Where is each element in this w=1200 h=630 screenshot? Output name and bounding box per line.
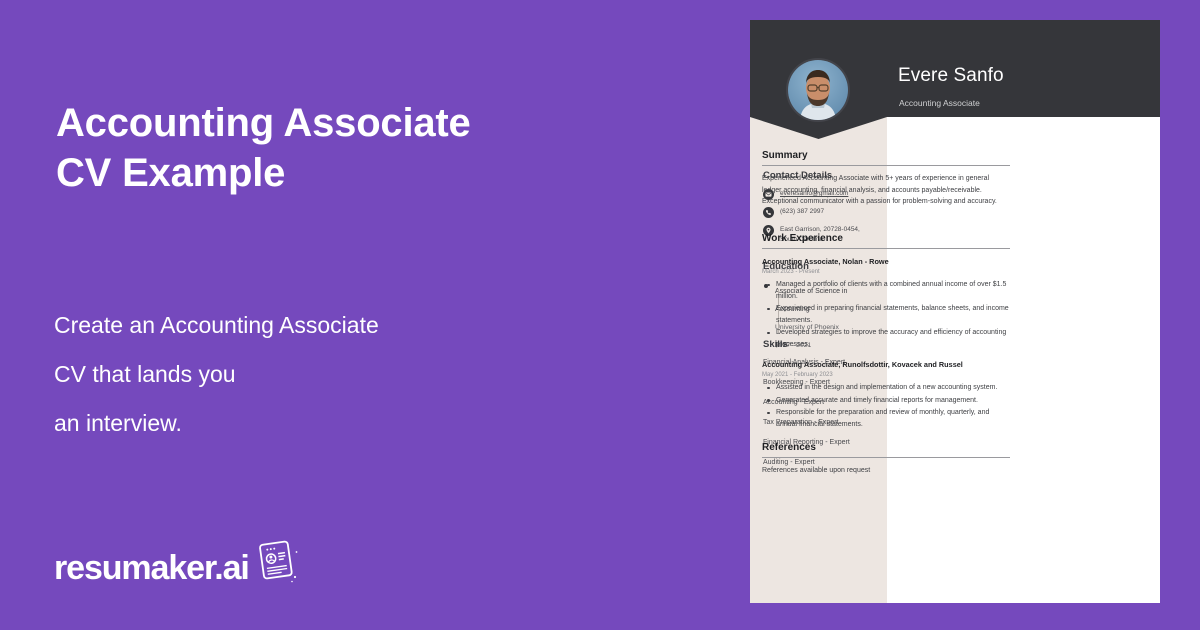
phone-icon — [763, 207, 774, 218]
work-experience-section: Work Experience Accounting Associate, No… — [762, 233, 1010, 431]
summary-divider — [762, 165, 1010, 166]
job-bullet: Responsible for the preparation and revi… — [762, 407, 1010, 430]
work-experience-item: Accounting Associate, Runolfsdottir, Kov… — [762, 359, 1010, 430]
contact-row-phone[interactable]: (623) 387 2997 — [763, 207, 881, 218]
job-title: Accounting Associate, Runolfsdottir, Kov… — [762, 359, 1010, 370]
job-bullet: Developed strategies to improve the accu… — [762, 327, 1010, 350]
cv-preview-card[interactable]: Evere Sanfo Accounting Associate Contact… — [750, 20, 1160, 603]
work-experience-item: Accounting Associate, Nolan - Rowe March… — [762, 256, 1010, 350]
job-bullet-list: Assisted in the design and implementatio… — [762, 382, 1010, 430]
promo-panel: Accounting Associate CV Example Create a… — [0, 0, 750, 630]
references-section: References References available upon req… — [762, 442, 1010, 477]
avatar — [786, 58, 850, 122]
job-bullet: Generated accurate and timely financial … — [762, 395, 1010, 407]
cv-person-role: Accounting Associate — [899, 98, 980, 108]
job-title: Accounting Associate, Nolan - Rowe — [762, 256, 1010, 267]
job-dates: May 2021 - February 2023 — [762, 370, 1010, 380]
job-bullet: Managed a portfolio of clients with a co… — [762, 279, 1010, 302]
job-dates: March 2023 - Present — [762, 267, 1010, 277]
summary-text: Experienced Accounting Associate with 5+… — [762, 173, 1010, 208]
cv-person-name: Evere Sanfo — [898, 65, 1004, 87]
job-bullet: Experienced in preparing financial state… — [762, 303, 1010, 326]
summary-section: Summary Experienced Accounting Associate… — [762, 150, 1010, 208]
work-experience-heading: Work Experience — [762, 233, 1010, 248]
references-heading: References — [762, 442, 1010, 457]
job-bullet-list: Managed a portfolio of clients with a co… — [762, 279, 1010, 350]
summary-heading: Summary — [762, 150, 1010, 165]
job-bullet: Assisted in the design and implementatio… — [762, 382, 1010, 394]
resume-document-icon — [252, 537, 300, 590]
references-divider — [762, 457, 1010, 458]
page-title: Accounting Associate CV Example — [56, 98, 656, 198]
work-experience-divider — [762, 248, 1010, 249]
logo-wordmark: resumaker.ai — [54, 551, 249, 585]
resumaker-logo[interactable]: resumaker.ai — [54, 545, 300, 590]
references-text: References available upon request — [762, 465, 1010, 477]
promo-subtext: Create an Accounting Associate CV that l… — [54, 301, 654, 448]
contact-phone-value: (623) 387 2997 — [780, 207, 824, 217]
